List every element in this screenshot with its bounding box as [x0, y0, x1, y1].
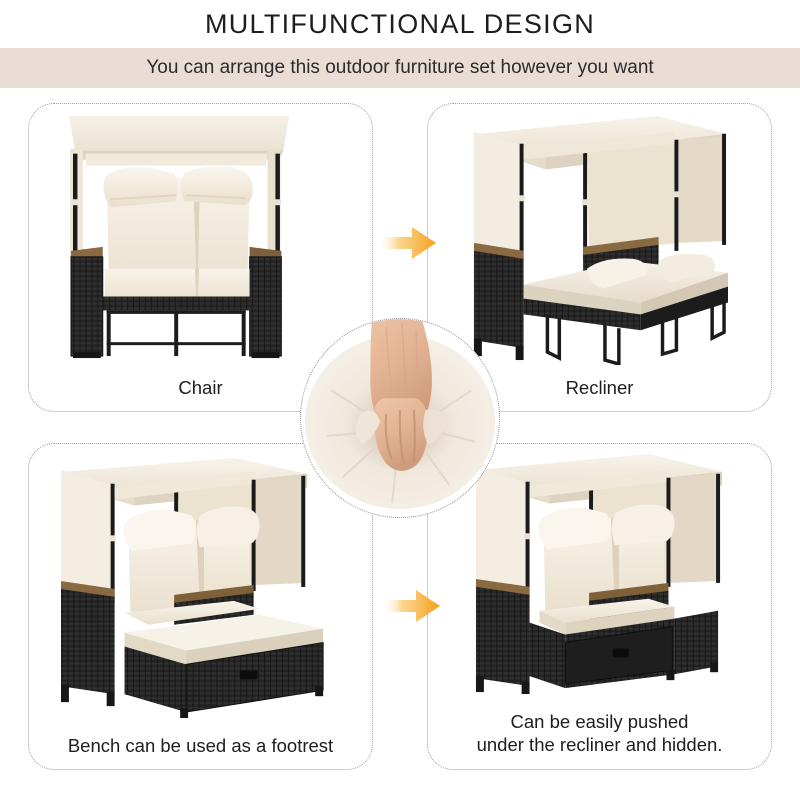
- panel-hidden-caption-line-1: Can be easily pushed: [511, 711, 689, 732]
- panel-hidden: Can be easily pushed under the recliner …: [427, 443, 772, 770]
- page-title: MULTIFUNCTIONAL DESIGN: [205, 9, 595, 40]
- recliner-illustration: [428, 104, 771, 365]
- panel-hidden-caption: Can be easily pushed under the recliner …: [428, 699, 771, 769]
- arrow-right-icon-bottom: [382, 585, 442, 627]
- cushion-detail-circle: [300, 318, 500, 518]
- header-subtitle-bar: You can arrange this outdoor furniture s…: [0, 48, 800, 88]
- page-subtitle: You can arrange this outdoor furniture s…: [146, 57, 653, 79]
- header-title-bar: MULTIFUNCTIONAL DESIGN: [0, 0, 800, 48]
- panel-bench-caption: Bench can be used as a footrest: [29, 723, 372, 769]
- infographic-root: MULTIFUNCTIONAL DESIGN You can arrange t…: [0, 0, 800, 800]
- panel-bench: Bench can be used as a footrest: [28, 443, 373, 770]
- panel-hidden-caption-line-2: under the recliner and hidden.: [477, 734, 723, 755]
- hand-pressing-cushion-image: [301, 319, 499, 517]
- bench-footrest-illustration: [29, 444, 372, 723]
- arrow-right-icon-top: [378, 222, 438, 264]
- bench-hidden-illustration: [428, 444, 771, 699]
- chair-illustration: [29, 104, 372, 365]
